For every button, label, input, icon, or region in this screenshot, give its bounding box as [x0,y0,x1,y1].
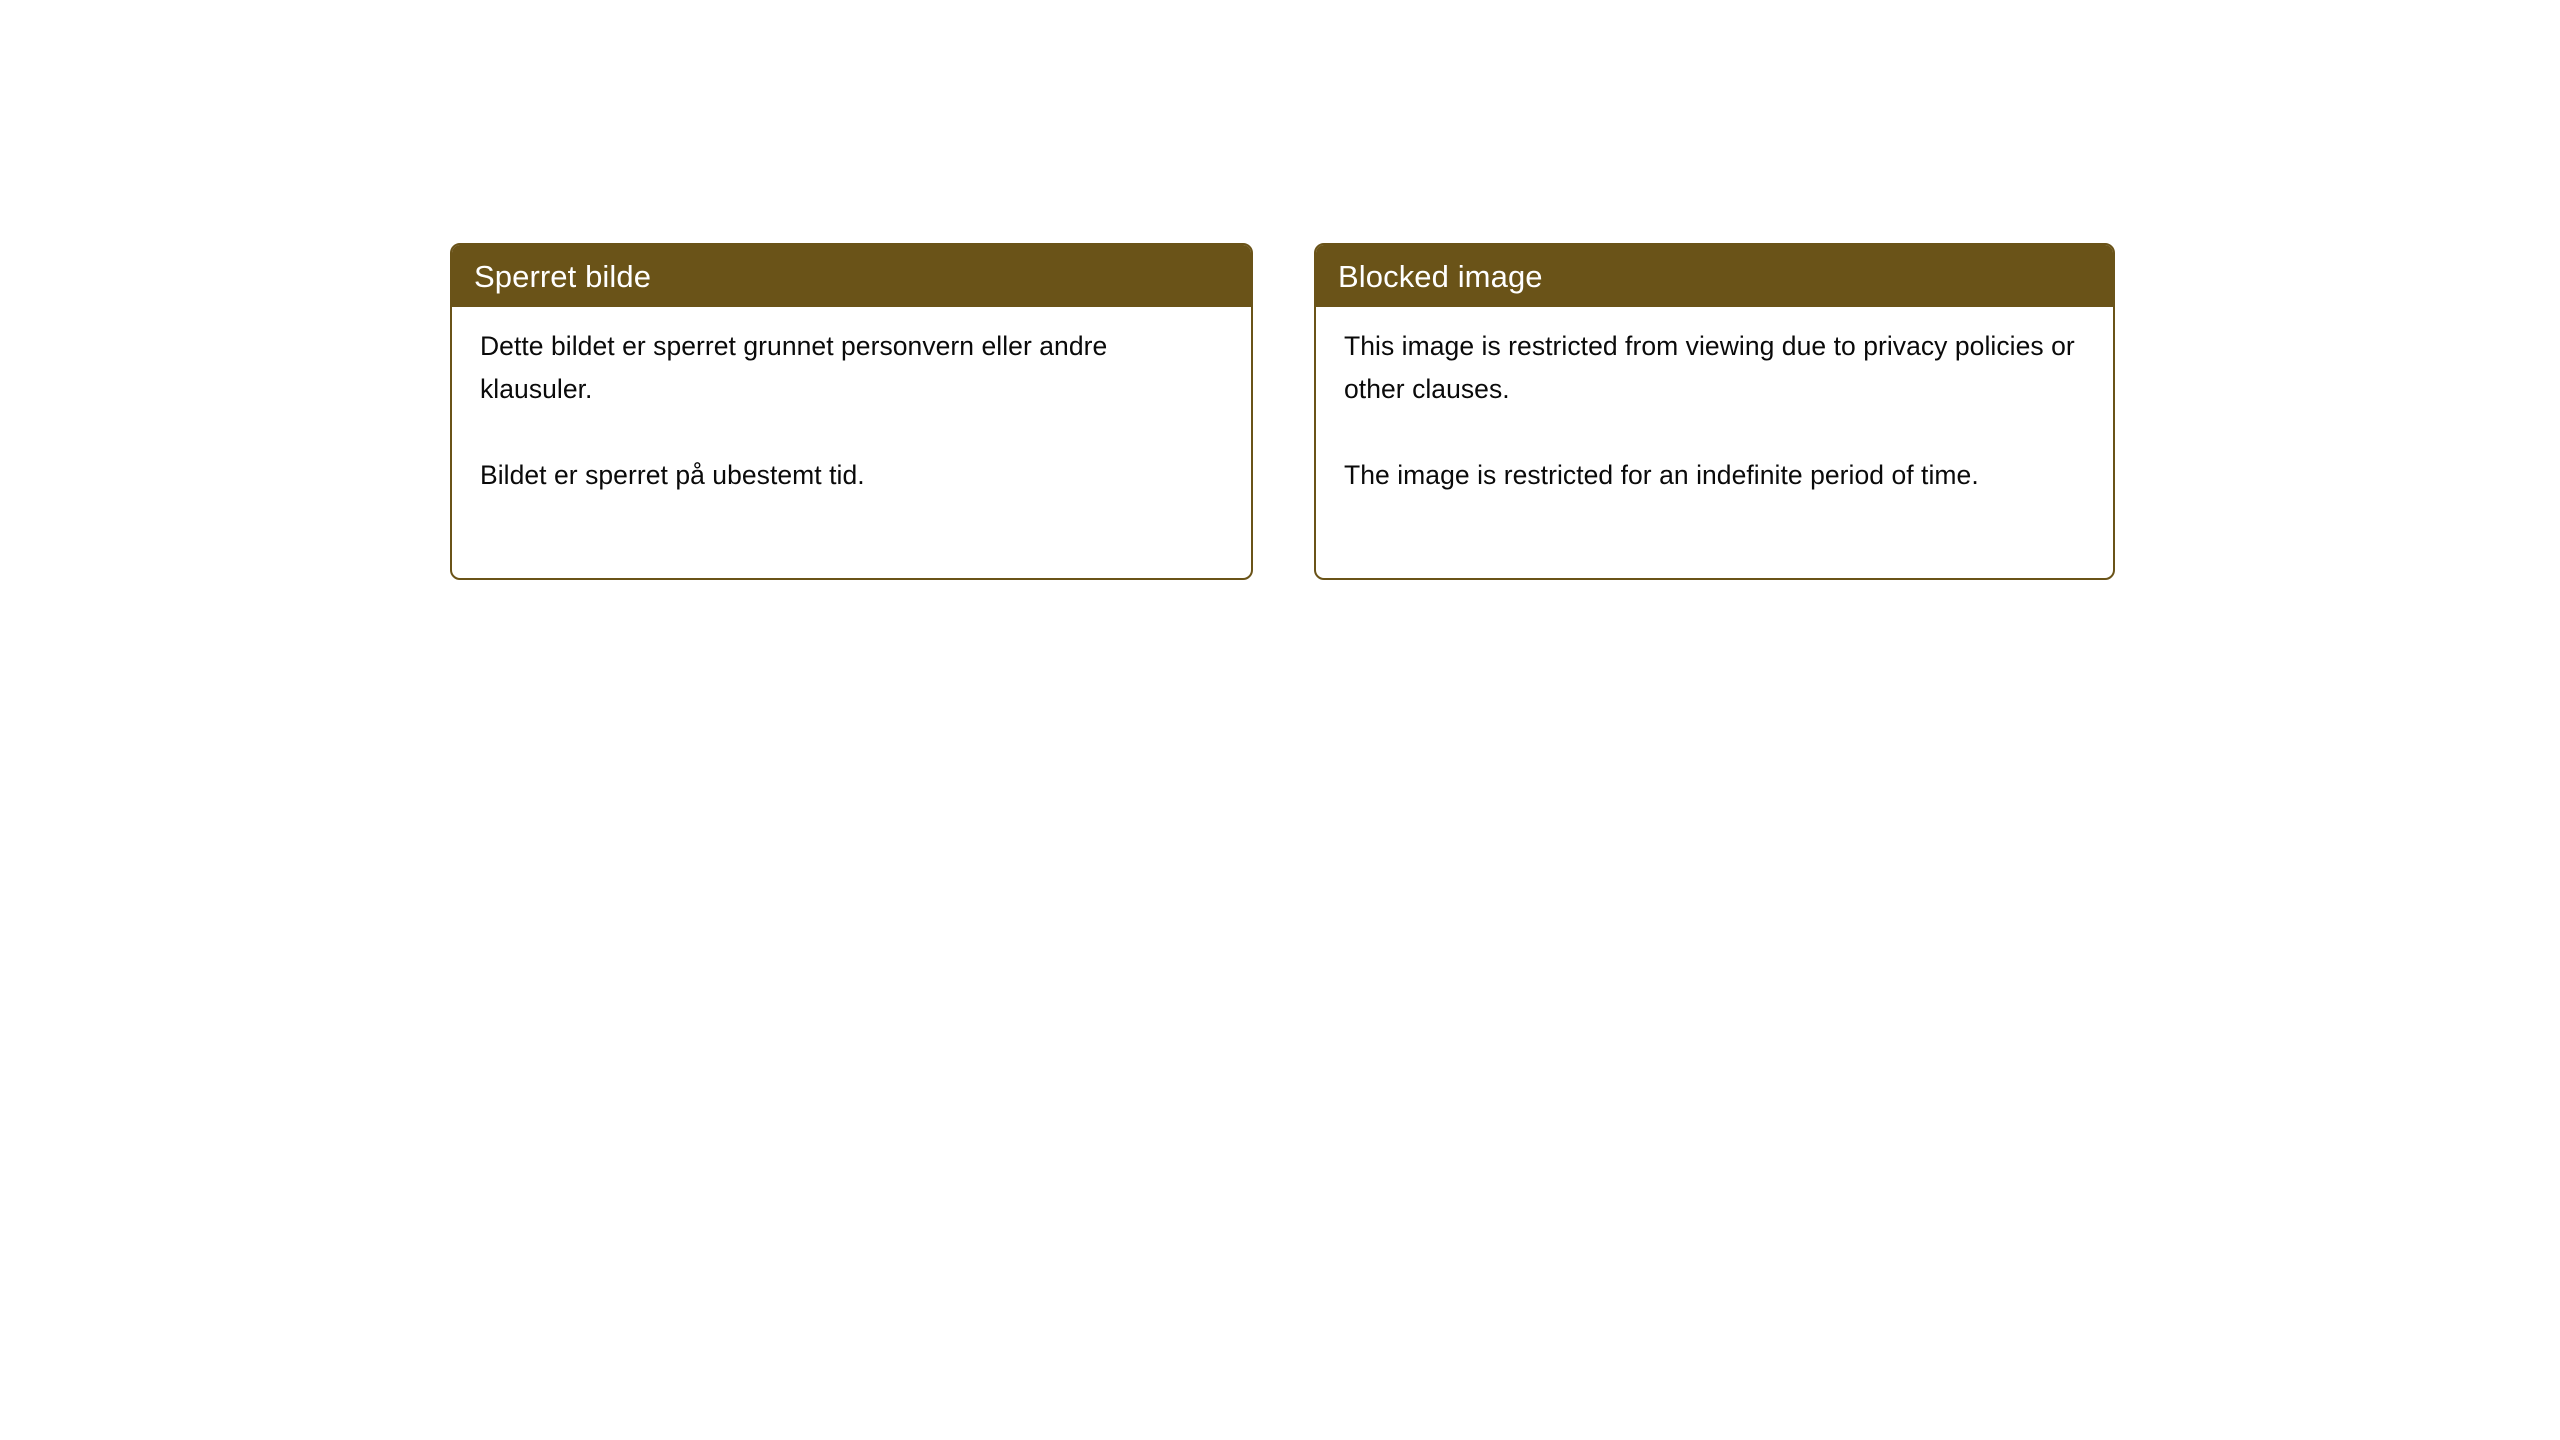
card-title-english: Blocked image [1338,261,1543,292]
card-paragraph-english-2: The image is restricted for an indefinit… [1344,454,2087,497]
card-paragraph-english-1: This image is restricted from viewing du… [1344,325,2087,411]
blocked-image-card-english: Blocked image This image is restricted f… [1314,243,2115,580]
blocked-image-card-norwegian: Sperret bilde Dette bildet er sperret gr… [450,243,1253,580]
card-header-english: Blocked image [1316,245,2113,307]
card-body-norwegian: Dette bildet er sperret grunnet personve… [452,307,1251,578]
card-paragraph-norwegian-2: Bildet er sperret på ubestemt tid. [480,454,1225,497]
card-paragraph-norwegian-1: Dette bildet er sperret grunnet personve… [480,325,1225,411]
card-title-norwegian: Sperret bilde [474,261,651,292]
card-header-norwegian: Sperret bilde [452,245,1251,307]
blocked-image-notice-area: Sperret bilde Dette bildet er sperret gr… [450,243,2115,580]
card-body-english: This image is restricted from viewing du… [1316,307,2113,578]
